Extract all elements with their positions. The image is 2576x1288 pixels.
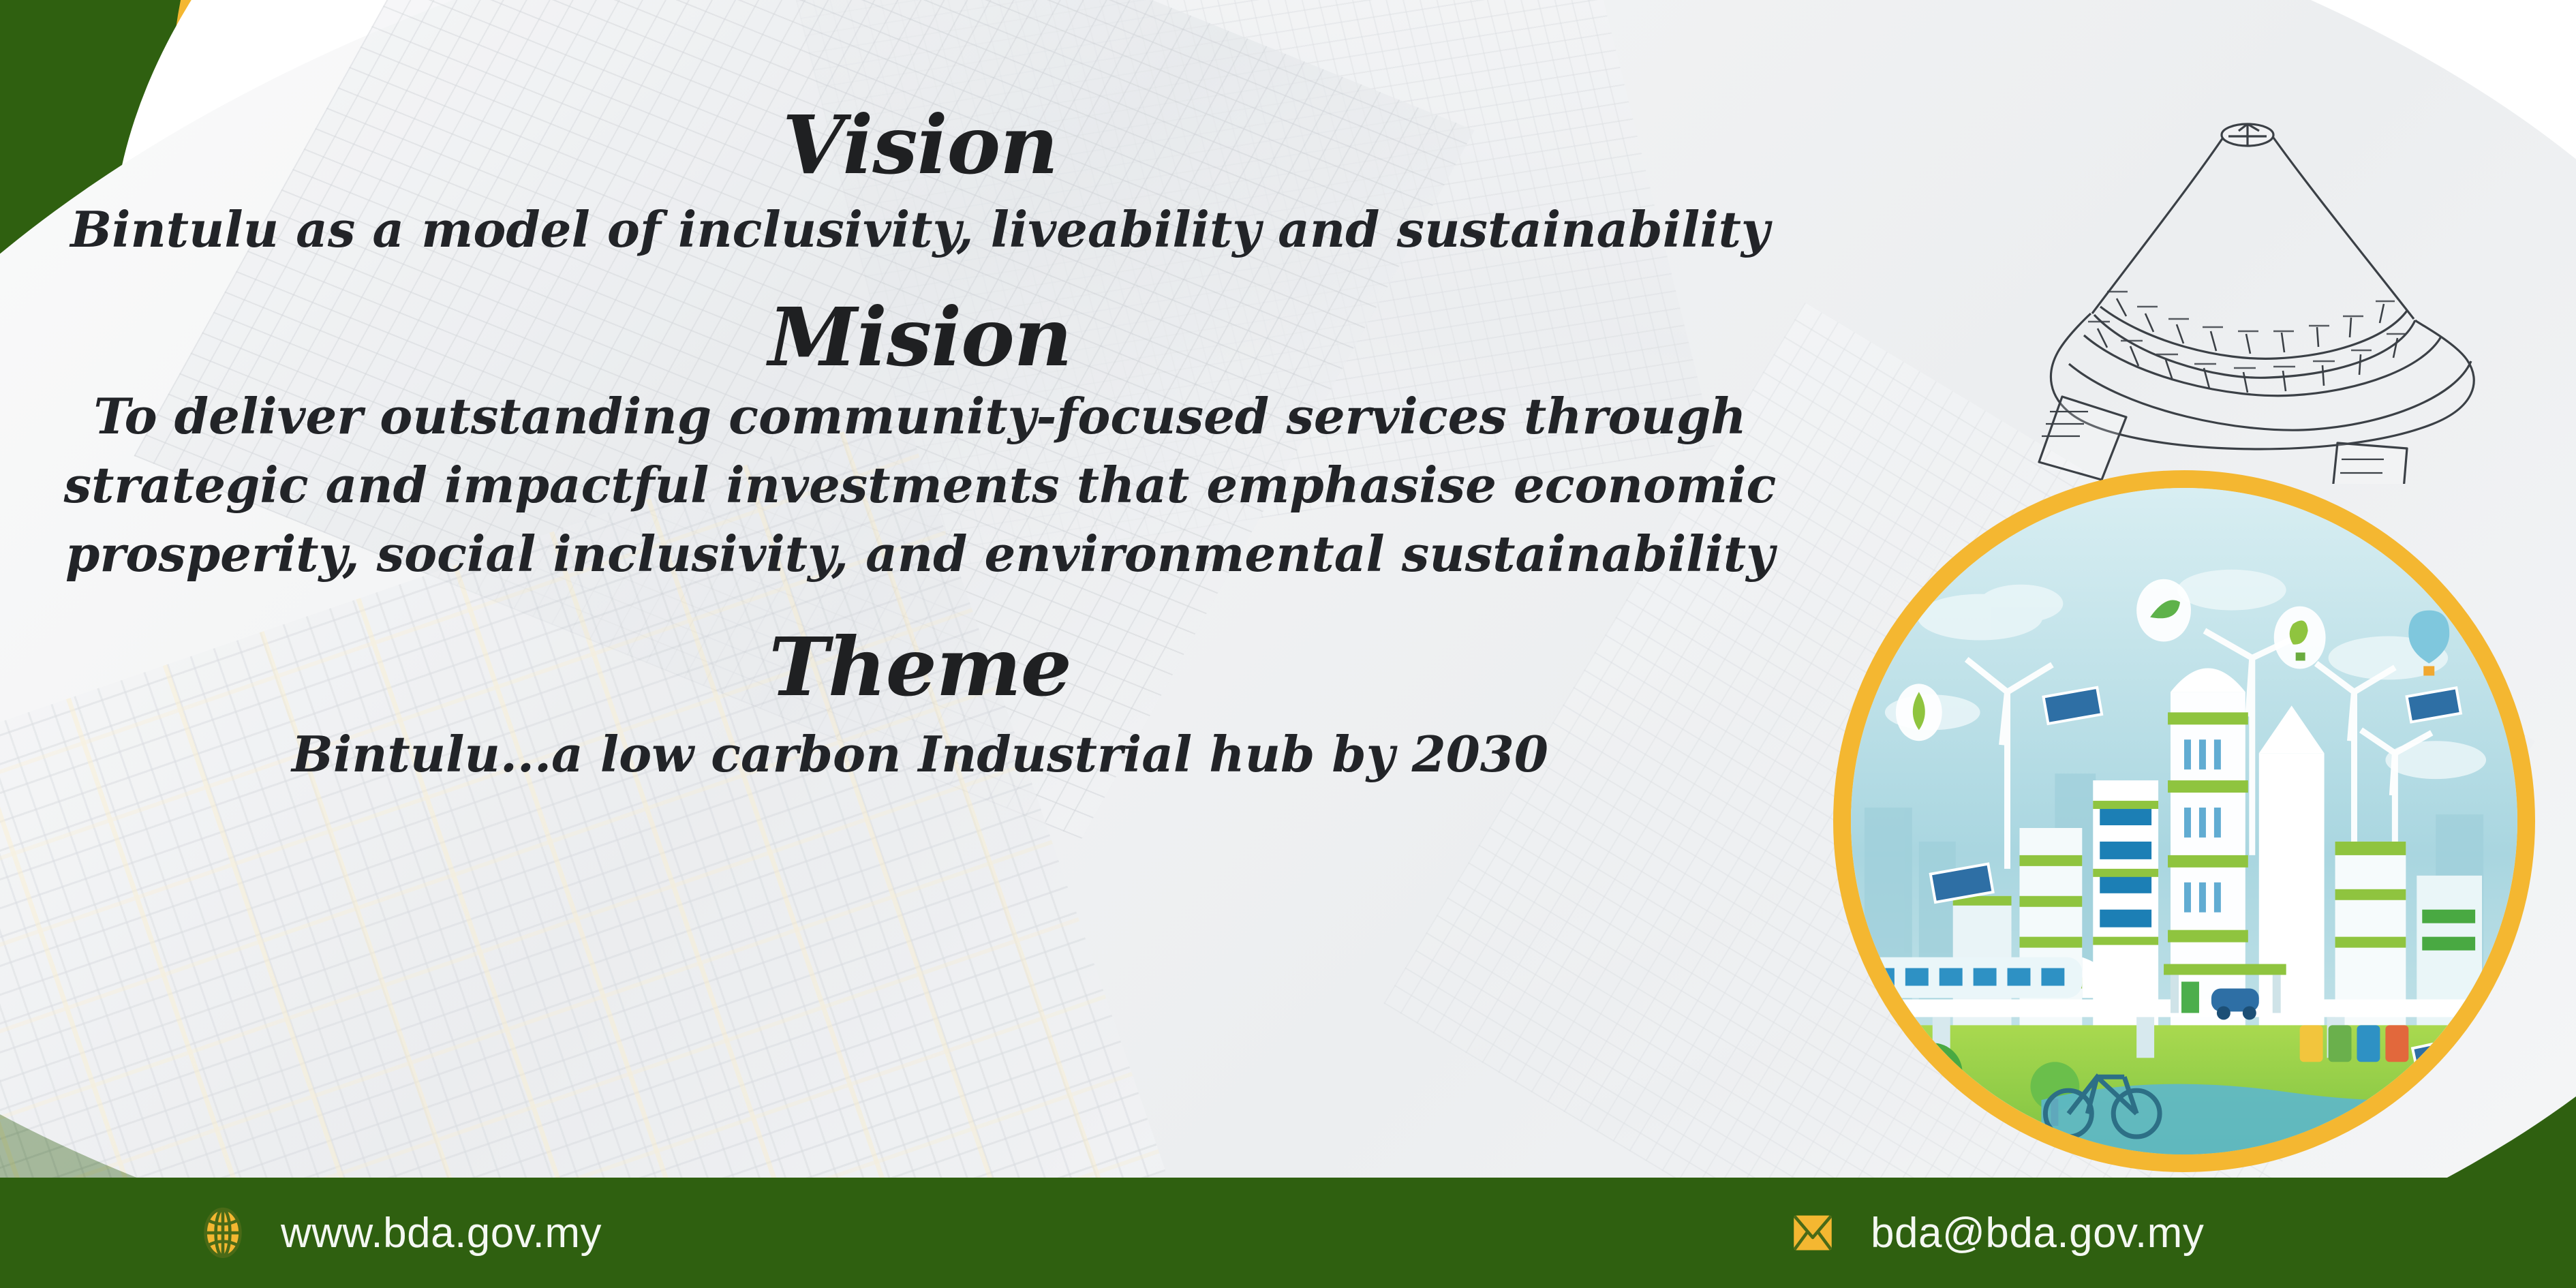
website-label: www.bda.gov.my xyxy=(281,1209,602,1257)
mission-line-1: To deliver outstanding community-focused… xyxy=(0,384,1840,448)
vision-line-1: Bintulu as a model of inclusivity, livea… xyxy=(0,197,1840,262)
mission-line-2: strategic and impactful investments that… xyxy=(0,453,1840,517)
email-label: bda@bda.gov.my xyxy=(1871,1209,2204,1257)
website-contact[interactable]: www.bda.gov.my xyxy=(198,1208,602,1258)
banner-text-content: Vision Bintulu as a model of inclusivity… xyxy=(0,102,1840,786)
contact-footer-bar: www.bda.gov.my bda@bda.gov.my xyxy=(0,1178,2576,1288)
email-contact[interactable]: bda@bda.gov.my xyxy=(1788,1208,2204,1258)
theme-heading: Theme xyxy=(0,624,1840,709)
mission-line-3: prosperity, social inclusivity, and envi… xyxy=(0,521,1840,586)
bintulu-dome-landmark-icon xyxy=(1929,89,2576,484)
section-theme: Theme Bintulu...a low carbon Industrial … xyxy=(0,624,1840,786)
vision-heading: Vision xyxy=(0,102,1840,187)
section-vision: Vision Bintulu as a model of inclusivity… xyxy=(0,102,1840,262)
mission-heading: Mision xyxy=(0,294,1840,380)
theme-line-1: Bintulu...a low carbon Industrial hub by… xyxy=(0,722,1840,786)
eco-city-illustration xyxy=(1833,470,2535,1172)
envelope-icon xyxy=(1788,1208,1838,1258)
section-mission: Mision To deliver outstanding community-… xyxy=(0,294,1840,586)
globe-icon xyxy=(198,1208,248,1258)
bda-vision-mission-banner: Vision Bintulu as a model of inclusivity… xyxy=(0,0,2576,1288)
